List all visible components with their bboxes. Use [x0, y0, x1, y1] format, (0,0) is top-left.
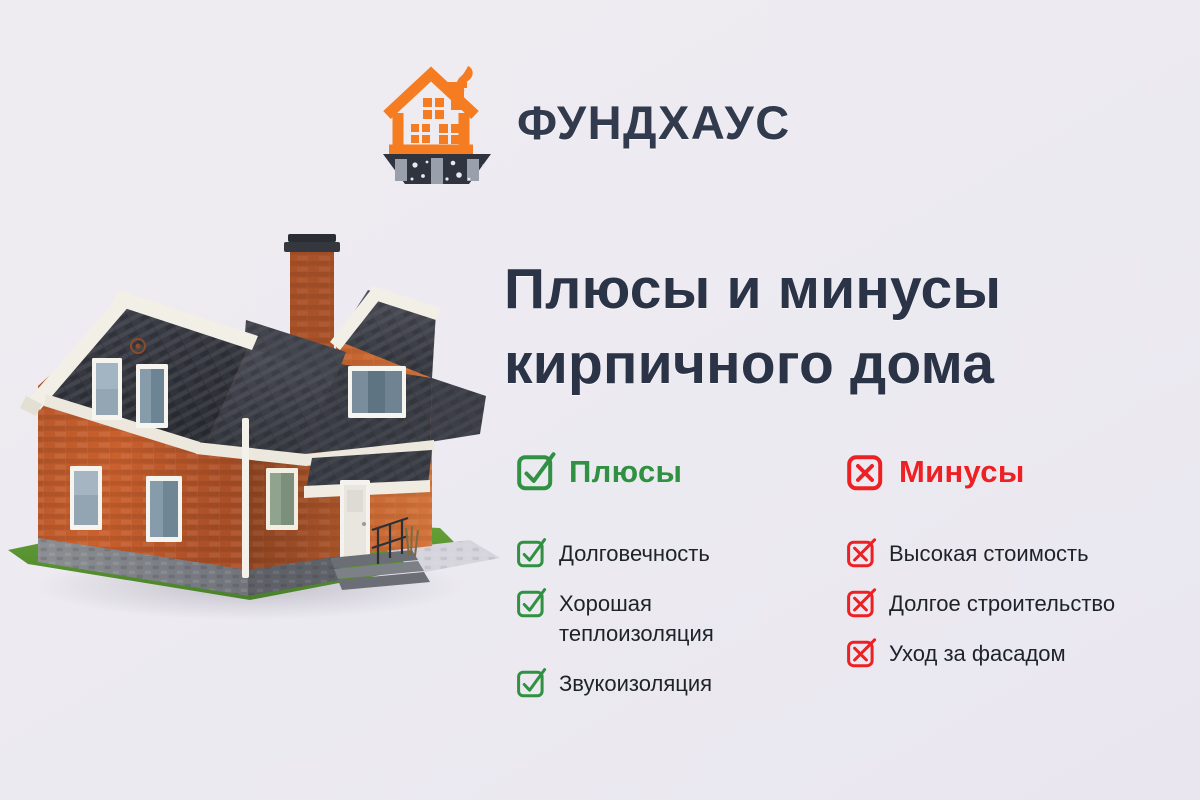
checkbox-checked-icon [516, 537, 547, 570]
checkbox-checked-icon [516, 451, 556, 493]
brick-house-photo [0, 228, 510, 648]
pros-heading-label: Плюсы [569, 454, 682, 490]
page-title-line-1: Плюсы и минусы [504, 257, 1001, 321]
cons-column: Минусы Высокая стоимость [846, 449, 1186, 717]
cons-heading-label: Минусы [899, 454, 1025, 490]
checkbox-cross-icon [846, 637, 877, 670]
page-title: Плюсы и минусы кирпичного дома [504, 252, 1144, 402]
checkbox-checked-icon [516, 587, 547, 620]
checkbox-cross-icon [846, 537, 877, 570]
pros-heading: Плюсы [516, 449, 846, 495]
list-item-label: Уход за фасадом [889, 637, 1066, 669]
checkbox-cross-icon [846, 587, 877, 620]
pros-list: Долговечность Хорошая теплоизоляция [516, 537, 846, 717]
list-item-label: Высокая стоимость [889, 537, 1089, 569]
list-item-label: Долгое строительство [889, 587, 1115, 619]
checkbox-checked-icon [516, 667, 547, 700]
list-item[interactable]: Звукоизоляция [516, 667, 846, 700]
list-item[interactable]: Долгое строительство [846, 587, 1186, 620]
list-item[interactable]: Высокая стоимость [846, 537, 1186, 570]
list-item[interactable]: Долговечность [516, 537, 846, 570]
brand-name: ФУНДХАУС [517, 95, 791, 150]
list-item-label: Долговечность [559, 537, 710, 569]
cons-list: Высокая стоимость Долгое строительство [846, 537, 1186, 687]
list-item-label: Звукоизоляция [559, 667, 712, 699]
list-item[interactable]: Хорошая теплоизоляция [516, 587, 846, 650]
house-foundation-icon [381, 58, 493, 186]
list-item-label: Хорошая теплоизоляция [559, 587, 809, 650]
pros-column: Плюсы Долговечность [516, 449, 846, 717]
checkbox-cross-icon [846, 451, 886, 493]
brand-logo[interactable]: ФУНДХАУС [381, 58, 791, 186]
pros-cons-section: Плюсы Долговечность [516, 449, 1186, 717]
list-item[interactable]: Уход за фасадом [846, 637, 1186, 670]
cons-heading: Минусы [846, 449, 1186, 495]
page-title-line-2: кирпичного дома [504, 332, 994, 396]
